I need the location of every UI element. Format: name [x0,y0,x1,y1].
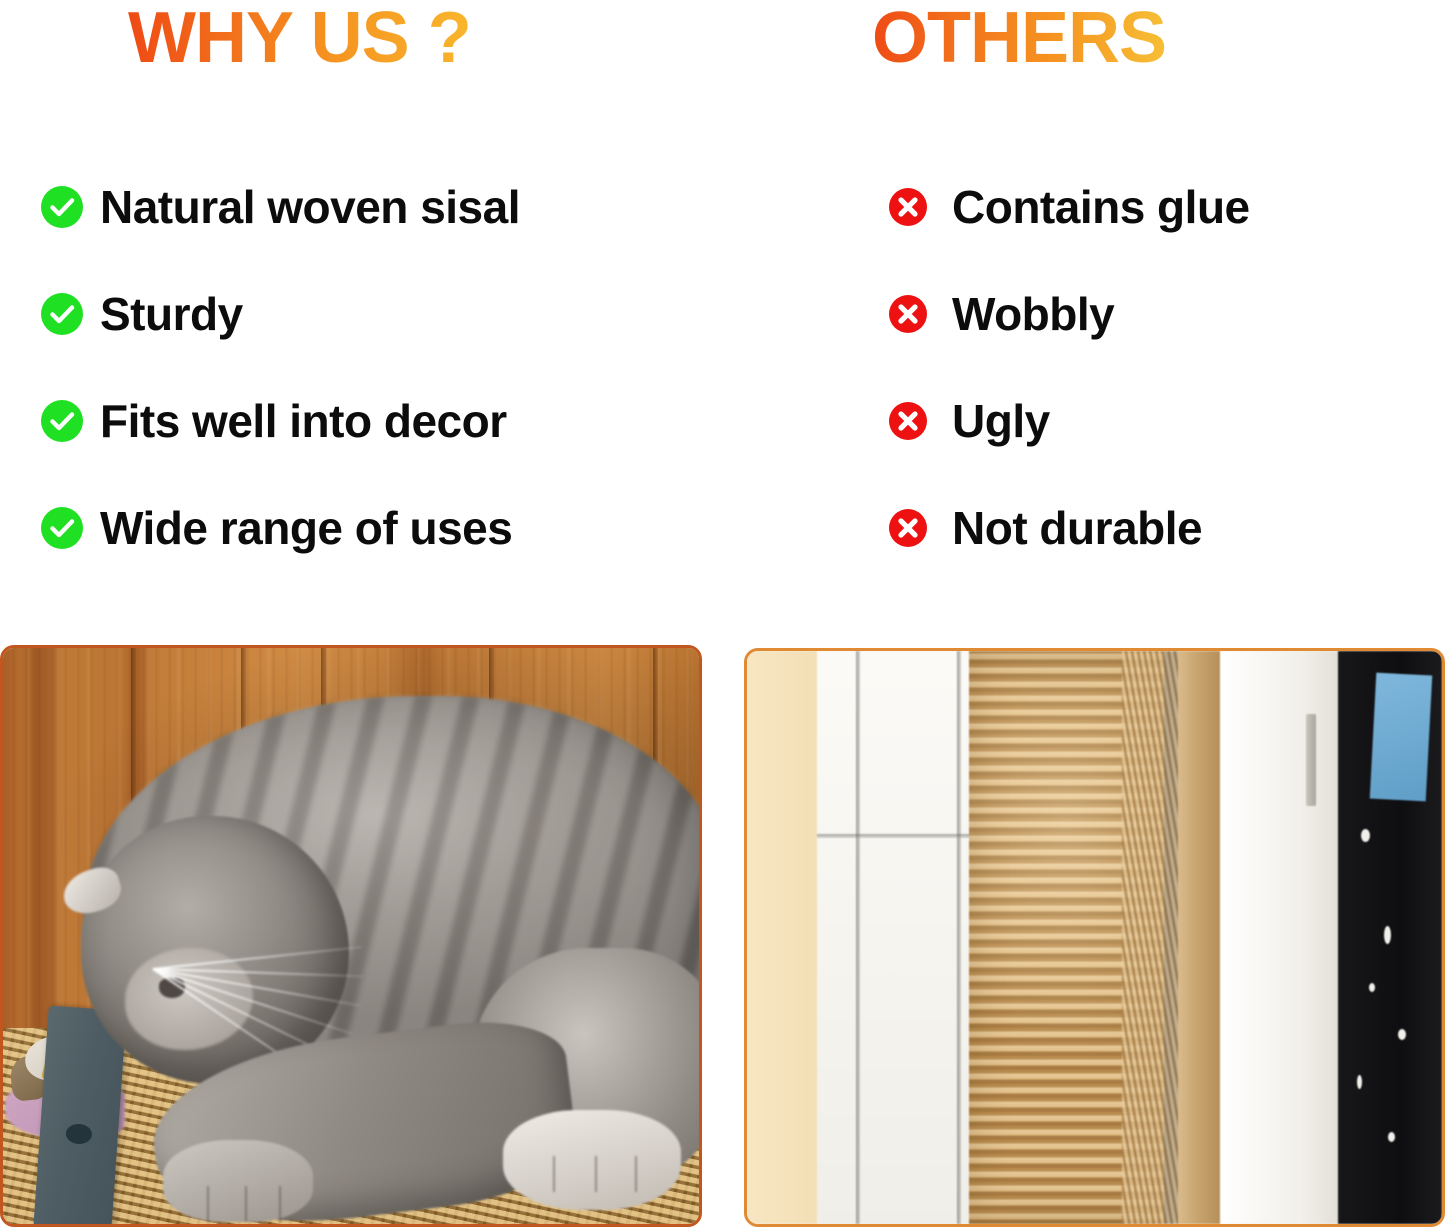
check-circle-icon [40,185,84,229]
cons-item-label: Ugly [952,395,1050,447]
x-circle-icon [888,187,928,227]
why-us-heading: WHY US ? [128,0,471,76]
pros-list: Natural woven sisal Sturdy Fits well int… [40,176,720,559]
grey-cat [3,648,699,1224]
others-heading: OTHERS [872,0,1166,76]
blue-tape-patch [1369,673,1431,802]
cons-list: Contains glue Wobbly Ugly [886,176,1406,559]
frayed-sisal-post-photo [744,648,1445,1227]
x-circle-icon [888,508,928,548]
pros-item-label: Natural woven sisal [100,181,520,233]
white-door-frame [1220,651,1338,1224]
wood-edge-strip [1178,651,1220,1224]
cons-list-item: Ugly [886,390,1406,452]
comparison-infographic: WHY US ? OTHERS Natural woven sisal Stur… [0,0,1445,1227]
cat-on-sisal-mat-photo [0,645,702,1227]
pros-item-label: Fits well into decor [100,395,507,447]
cons-list-item: Contains glue [886,176,1406,238]
cons-item-label: Not durable [952,502,1202,554]
pros-item-label: Wide range of uses [100,502,512,554]
pros-list-item: Fits well into decor [40,390,720,452]
check-circle-icon [40,399,84,443]
cons-item-label: Wobbly [952,288,1114,340]
door-hinge [1306,714,1316,806]
cons-list-item: Wobbly [886,283,1406,345]
tiled-wall [817,651,970,1224]
cons-item-label: Contains glue [952,181,1250,233]
headings-row: WHY US ? OTHERS [0,0,1445,100]
cons-list-item: Not durable [886,497,1406,559]
pros-list-item: Natural woven sisal [40,176,720,238]
pros-item-label: Sturdy [100,288,243,340]
pros-list-item: Sturdy [40,283,720,345]
x-circle-icon [888,294,928,334]
x-circle-icon [888,401,928,441]
check-circle-icon [40,292,84,336]
check-circle-icon [40,506,84,550]
cream-wall [747,651,817,1224]
pros-list-item: Wide range of uses [40,497,720,559]
